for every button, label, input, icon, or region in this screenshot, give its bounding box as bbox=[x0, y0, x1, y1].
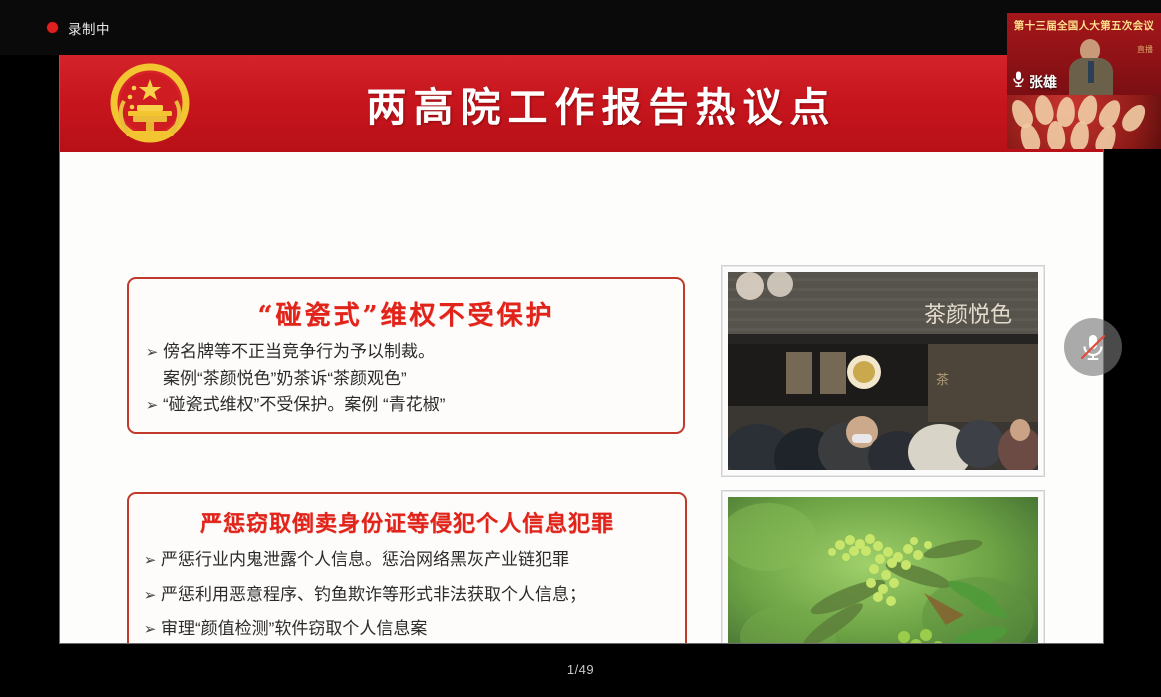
participant-video-tile[interactable]: 第十三届全国人大第五次会议 直播 张雄 bbox=[1007, 13, 1161, 149]
bullet-text: 严惩行业内鬼泄露个人信息。惩治网络黑灰产业链犯罪 bbox=[161, 548, 685, 573]
slide-header: 两高院工作报告热议点 bbox=[60, 55, 1103, 152]
green-pepper-plant-photo-image bbox=[728, 497, 1038, 643]
list-item: ➢ 严惩利用恶意程序、钓鱼欺诈等形式非法获取个人信息； bbox=[139, 583, 685, 608]
petal-shape bbox=[1118, 101, 1150, 136]
participant-name: 张雄 bbox=[1029, 72, 1057, 92]
content-box-1-title: “碰瓷式”维权不受保护 bbox=[129, 295, 683, 332]
list-item: ➢ 案例“茶颜悦色”奶茶诉“茶颜观色” bbox=[141, 367, 683, 392]
content-box-2-bullets: ➢ 严惩行业内鬼泄露个人信息。惩治网络黑灰产业链犯罪 ➢ 严惩利用恶意程序、钓鱼… bbox=[139, 548, 685, 642]
speaker-tie bbox=[1088, 61, 1094, 83]
video-side-text: 直播 bbox=[1137, 43, 1153, 57]
microphone-muted-icon[interactable] bbox=[1064, 318, 1122, 376]
bullet-text: 严惩利用恶意程序、钓鱼欺诈等形式非法获取个人信息； bbox=[161, 583, 685, 608]
bullet-text: 审理“颜值检测”软件窃取个人信息案 bbox=[161, 617, 685, 642]
participant-name-badge: 张雄 bbox=[1011, 70, 1057, 93]
content-box-2-title: 严惩窃取倒卖身份证等侵犯个人信息犯罪 bbox=[129, 506, 685, 538]
content-box-1-bullets: ➢ 傍名牌等不正当竞争行为予以制裁。 ➢ 案例“茶颜悦色”奶茶诉“茶颜观色” ➢… bbox=[141, 340, 683, 418]
bullet-arrow-icon: ➢ bbox=[141, 340, 163, 364]
page-indicator: 1/49 bbox=[0, 662, 1161, 677]
list-item: ➢ 傍名牌等不正当竞争行为予以制裁。 bbox=[141, 340, 683, 365]
bullet-text: 案例“茶颜悦色”奶茶诉“茶颜观色” bbox=[163, 367, 683, 392]
green-pepper-plant-photo bbox=[721, 490, 1045, 643]
recording-dot-icon bbox=[47, 22, 58, 33]
bullet-arrow-icon: ➢ bbox=[139, 583, 161, 607]
content-box-1: “碰瓷式”维权不受保护 ➢ 傍名牌等不正当竞争行为予以制裁。 ➢ 案例“茶颜悦色… bbox=[127, 277, 685, 434]
bullet-text: 傍名牌等不正当竞争行为予以制裁。 bbox=[163, 340, 683, 365]
svg-text:茶颜悦色: 茶颜悦色 bbox=[924, 303, 1012, 328]
video-banner-text: 第十三届全国人大第五次会议 bbox=[1007, 18, 1161, 33]
bullet-arrow-icon: ➢ bbox=[141, 393, 163, 417]
bullet-text: “碰瓷式维权”不受保护。案例 “青花椒” bbox=[163, 393, 683, 418]
svg-text:茶: 茶 bbox=[936, 372, 949, 388]
speaker-figure bbox=[1069, 39, 1113, 95]
slide-body: “碰瓷式”维权不受保护 ➢ 傍名牌等不正当竞争行为予以制裁。 ➢ 案例“茶颜悦色… bbox=[60, 152, 1103, 643]
list-item: ➢ 审理“颜值检测”软件窃取个人信息案 bbox=[139, 617, 685, 642]
list-item: ➢ “碰瓷式维权”不受保护。案例 “青花椒” bbox=[141, 393, 683, 418]
bullet-arrow-icon: ➢ bbox=[139, 617, 161, 641]
content-box-2: 严惩窃取倒卖身份证等侵犯个人信息犯罪 ➢ 严惩行业内鬼泄露个人信息。惩治网络黑灰… bbox=[127, 492, 687, 643]
recording-label: 录制中 bbox=[68, 18, 110, 38]
list-item: ➢ 严惩行业内鬼泄露个人信息。惩治网络黑灰产业链犯罪 bbox=[139, 548, 685, 573]
microphone-icon bbox=[1011, 70, 1026, 93]
bullet-arrow-icon: ➢ bbox=[139, 548, 161, 572]
video-lower-decoration bbox=[1007, 95, 1161, 149]
petal-shape bbox=[1092, 123, 1120, 149]
slide-title: 两高院工作报告热议点 bbox=[60, 75, 1103, 133]
presentation-slide[interactable]: 两高院工作报告热议点 “碰瓷式”维权不受保护 ➢ 傍名牌等不正当竞争行为予以制裁… bbox=[60, 55, 1103, 643]
tea-shop-photo: 茶颜悦色 茶 bbox=[721, 265, 1045, 477]
tea-shop-photo-image: 茶颜悦色 茶 bbox=[728, 272, 1038, 470]
recording-bar: 录制中 bbox=[0, 0, 1161, 55]
